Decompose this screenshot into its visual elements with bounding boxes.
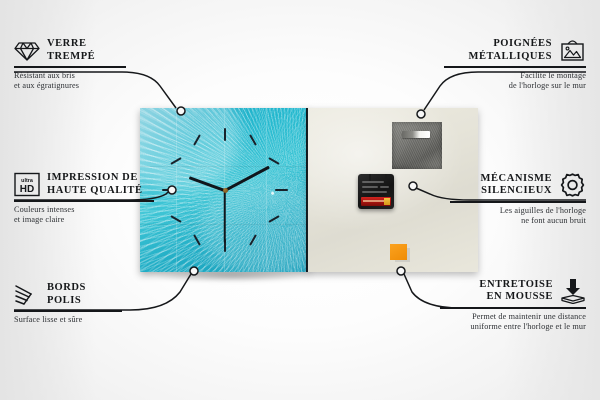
feature-title: BORDSPOLIS [47,282,86,307]
battery-label [363,200,384,202]
feature-rule [444,66,586,68]
tick-9 [162,189,175,191]
feather-highlight-2 [200,180,310,272]
feature-subtitle: Surface lisse et sûre [14,315,128,325]
feature-header: VERRETREMPÉ [14,38,132,63]
pane-line [176,108,177,272]
feature-subtitle: Les aiguilles de l'horlogene font aucun … [444,206,586,226]
battery-terminal [384,198,390,205]
movement-print [362,186,378,188]
product-image [140,108,310,272]
movement-print [362,191,387,193]
hanger-slot [402,131,430,138]
feature-impression-haute-qualite: ultra HD IMPRESSION DEHAUTE QUALITÉ Coul… [14,172,160,225]
feature-mecanisme-silencieux: MÉCANISMESILENCIEUX Les aiguilles de l'h… [444,172,586,226]
tick-12 [224,128,226,141]
feature-bords-polis: BORDSPOLIS Surface lisse et sûre [14,282,128,325]
feature-title: MÉCANISMESILENCIEUX [481,173,552,198]
feature-header: MÉCANISMESILENCIEUX [444,172,586,198]
feature-poignees-metalliques: POIGNÉESMÉTALLIQUES Facilite le montaged… [438,38,586,91]
infographic-canvas: VERRETREMPÉ Résistant aux briset aux égr… [0,0,600,400]
metal-hanger-plate [392,122,442,169]
feature-subtitle: Couleurs intenseset image claire [14,205,160,225]
tick-3 [275,189,288,191]
feature-title: VERRETREMPÉ [47,38,95,63]
battery [361,197,391,206]
ultra-hd-icon: ultra HD [14,172,40,197]
diamond-icon [14,40,40,62]
tick-1 [249,134,257,145]
feature-rule [440,307,586,309]
quartz-movement-box [358,174,394,209]
tick-2 [268,157,279,165]
feature-title: POIGNÉESMÉTALLIQUES [469,38,552,63]
feature-title: IMPRESSION DEHAUTE QUALITÉ [47,172,143,197]
down-arrow-foam-icon [560,278,586,304]
feature-header: BORDSPOLIS [14,282,128,307]
tick-7 [193,234,201,245]
pane-line [266,108,267,272]
movement-print [380,186,389,188]
feature-rule [14,200,154,202]
feature-subtitle: Résistant aux briset aux égratignures [14,71,132,91]
feature-rule [14,310,122,312]
foam-spacer [390,244,407,260]
movement-print [362,181,384,183]
svg-text:HD: HD [20,184,34,195]
feature-entretoise-en-mousse: ENTRETOISEEN MOUSSE Permet de maintenir … [434,278,586,332]
feature-verre-trempe: VERRETREMPÉ Résistant aux briset aux égr… [14,38,132,91]
clock-hub [223,188,228,193]
clock-face-front [140,108,310,272]
feature-title: ENTRETOISEEN MOUSSE [479,279,553,304]
polished-edges-icon [14,284,40,306]
hanger-loop [369,174,387,181]
picture-frame-hook-icon [559,39,586,63]
feature-rule [14,66,126,68]
feature-header: ultra HD IMPRESSION DEHAUTE QUALITÉ [14,172,160,197]
feature-header: POIGNÉESMÉTALLIQUES [438,38,586,63]
feature-rule [450,201,586,203]
feature-header: ENTRETOISEEN MOUSSE [434,278,586,304]
gear-icon [559,172,586,198]
feature-subtitle: Permet de maintenir une distanceuniforme… [434,312,586,332]
feature-subtitle: Facilite le montagede l'horloge sur le m… [438,71,586,91]
pane-band [140,166,310,167]
second-hand [224,191,226,243]
